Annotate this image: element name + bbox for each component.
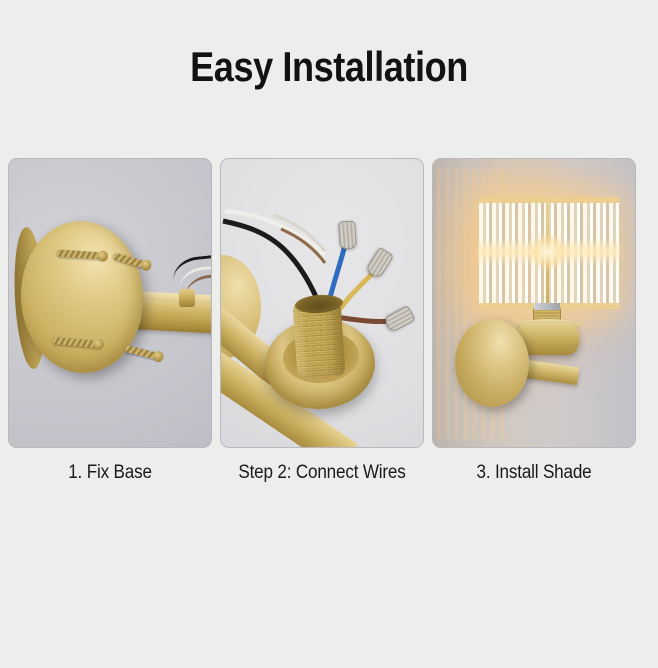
step-image-install-shade[interactable] xyxy=(432,158,636,448)
bulb-glow xyxy=(529,233,567,271)
wire-brown-thin xyxy=(281,229,325,263)
step-captions-row: 1. Fix Base Step 2: Connect Wires 3. Ins… xyxy=(8,462,650,484)
step-image-fix-base[interactable] xyxy=(8,158,212,448)
page-title: Easy Installation xyxy=(46,46,612,88)
wire-black xyxy=(223,221,317,299)
socket-rating-label xyxy=(534,303,560,310)
step-caption-2: Step 2: Connect Wires xyxy=(230,462,414,484)
installation-steps-gallery xyxy=(8,158,650,448)
step-caption-1: 1. Fix Base xyxy=(18,462,202,484)
step-image-connect-wires[interactable] xyxy=(220,158,424,448)
wire-nut-blue xyxy=(338,220,357,249)
brass-wall-plate xyxy=(455,319,529,407)
step-caption-3: 3. Install Shade xyxy=(442,462,626,484)
arm-collar xyxy=(179,289,195,307)
